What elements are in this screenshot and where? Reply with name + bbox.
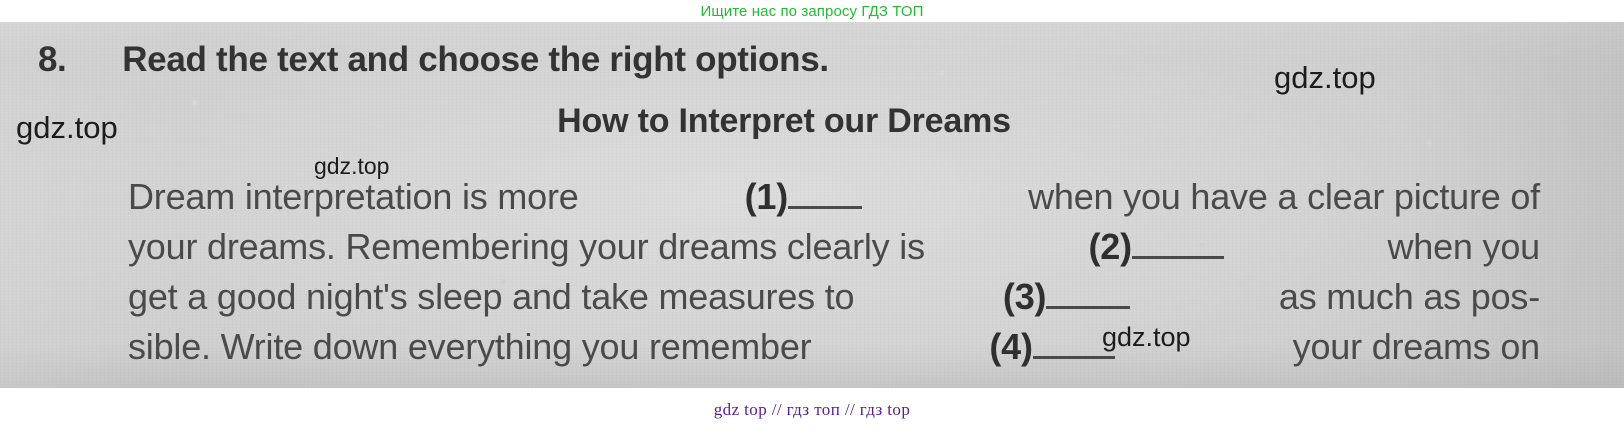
scanned-page-image: 8. Read the text and choose the right op…	[0, 22, 1624, 388]
passage-gap-1-blank[interactable]	[788, 180, 862, 209]
top-promo-text: Ищите нас по запросу ГДЗ ТОП	[700, 3, 923, 20]
passage-line-2-text-a: your dreams. Remembering your dreams cle…	[128, 222, 925, 272]
watermark-top-right: gdz.top	[1274, 60, 1376, 96]
passage-body: Dream interpretation is more (1) when yo…	[128, 172, 1540, 372]
passage-line-3: get a good night's sleep and take measur…	[128, 272, 1540, 322]
exercise-header: 8. Read the text and choose the right op…	[38, 40, 829, 80]
passage-title: How to Interpret our Dreams	[0, 102, 1624, 141]
passage-line-2: your dreams. Remembering your dreams cle…	[128, 222, 1540, 272]
page-content: 8. Read the text and choose the right op…	[0, 22, 1624, 388]
top-promo-banner: Ищите нас по запросу ГДЗ ТОП	[0, 0, 1624, 22]
watermark-left: gdz.top	[16, 110, 118, 146]
bottom-promo-banner: gdz top // гдз топ // гдз top	[0, 388, 1624, 431]
watermark-line-four: gdz.top	[1102, 322, 1191, 353]
passage-gap-4: (4)	[989, 322, 1114, 372]
passage-gap-2-number: (2)	[1088, 226, 1131, 267]
passage-line-3-text-a: get a good night's sleep and take measur…	[128, 272, 854, 322]
passage-gap-1-number: (1)	[745, 176, 788, 217]
watermark-middle: gdz.top	[314, 153, 389, 180]
passage-line-2-text-b: when you	[1387, 222, 1540, 272]
passage-gap-2-blank[interactable]	[1132, 230, 1224, 259]
passage-gap-3-number: (3)	[1003, 276, 1046, 317]
passage-gap-2: (2)	[1088, 222, 1223, 272]
exercise-number: 8.	[38, 40, 66, 80]
passage-gap-1: (1)	[745, 172, 862, 222]
passage-line-4-text-b: your dreams on	[1293, 322, 1540, 372]
passage-line-4-text-a: sible. Write down everything you remembe…	[128, 322, 811, 372]
bottom-promo-text: gdz top // гдз топ // гдз top	[714, 400, 910, 420]
exercise-instruction: Read the text and choose the right optio…	[122, 40, 829, 80]
passage-line-3-text-b: as much as pos-	[1279, 272, 1540, 322]
passage-line-4: sible. Write down everything you remembe…	[128, 322, 1540, 372]
passage-gap-3: (3)	[1003, 272, 1130, 322]
passage-line-1-text-b: when you have a clear picture of	[1028, 172, 1540, 222]
passage-gap-4-number: (4)	[989, 326, 1032, 367]
passage-gap-3-blank[interactable]	[1046, 280, 1130, 309]
